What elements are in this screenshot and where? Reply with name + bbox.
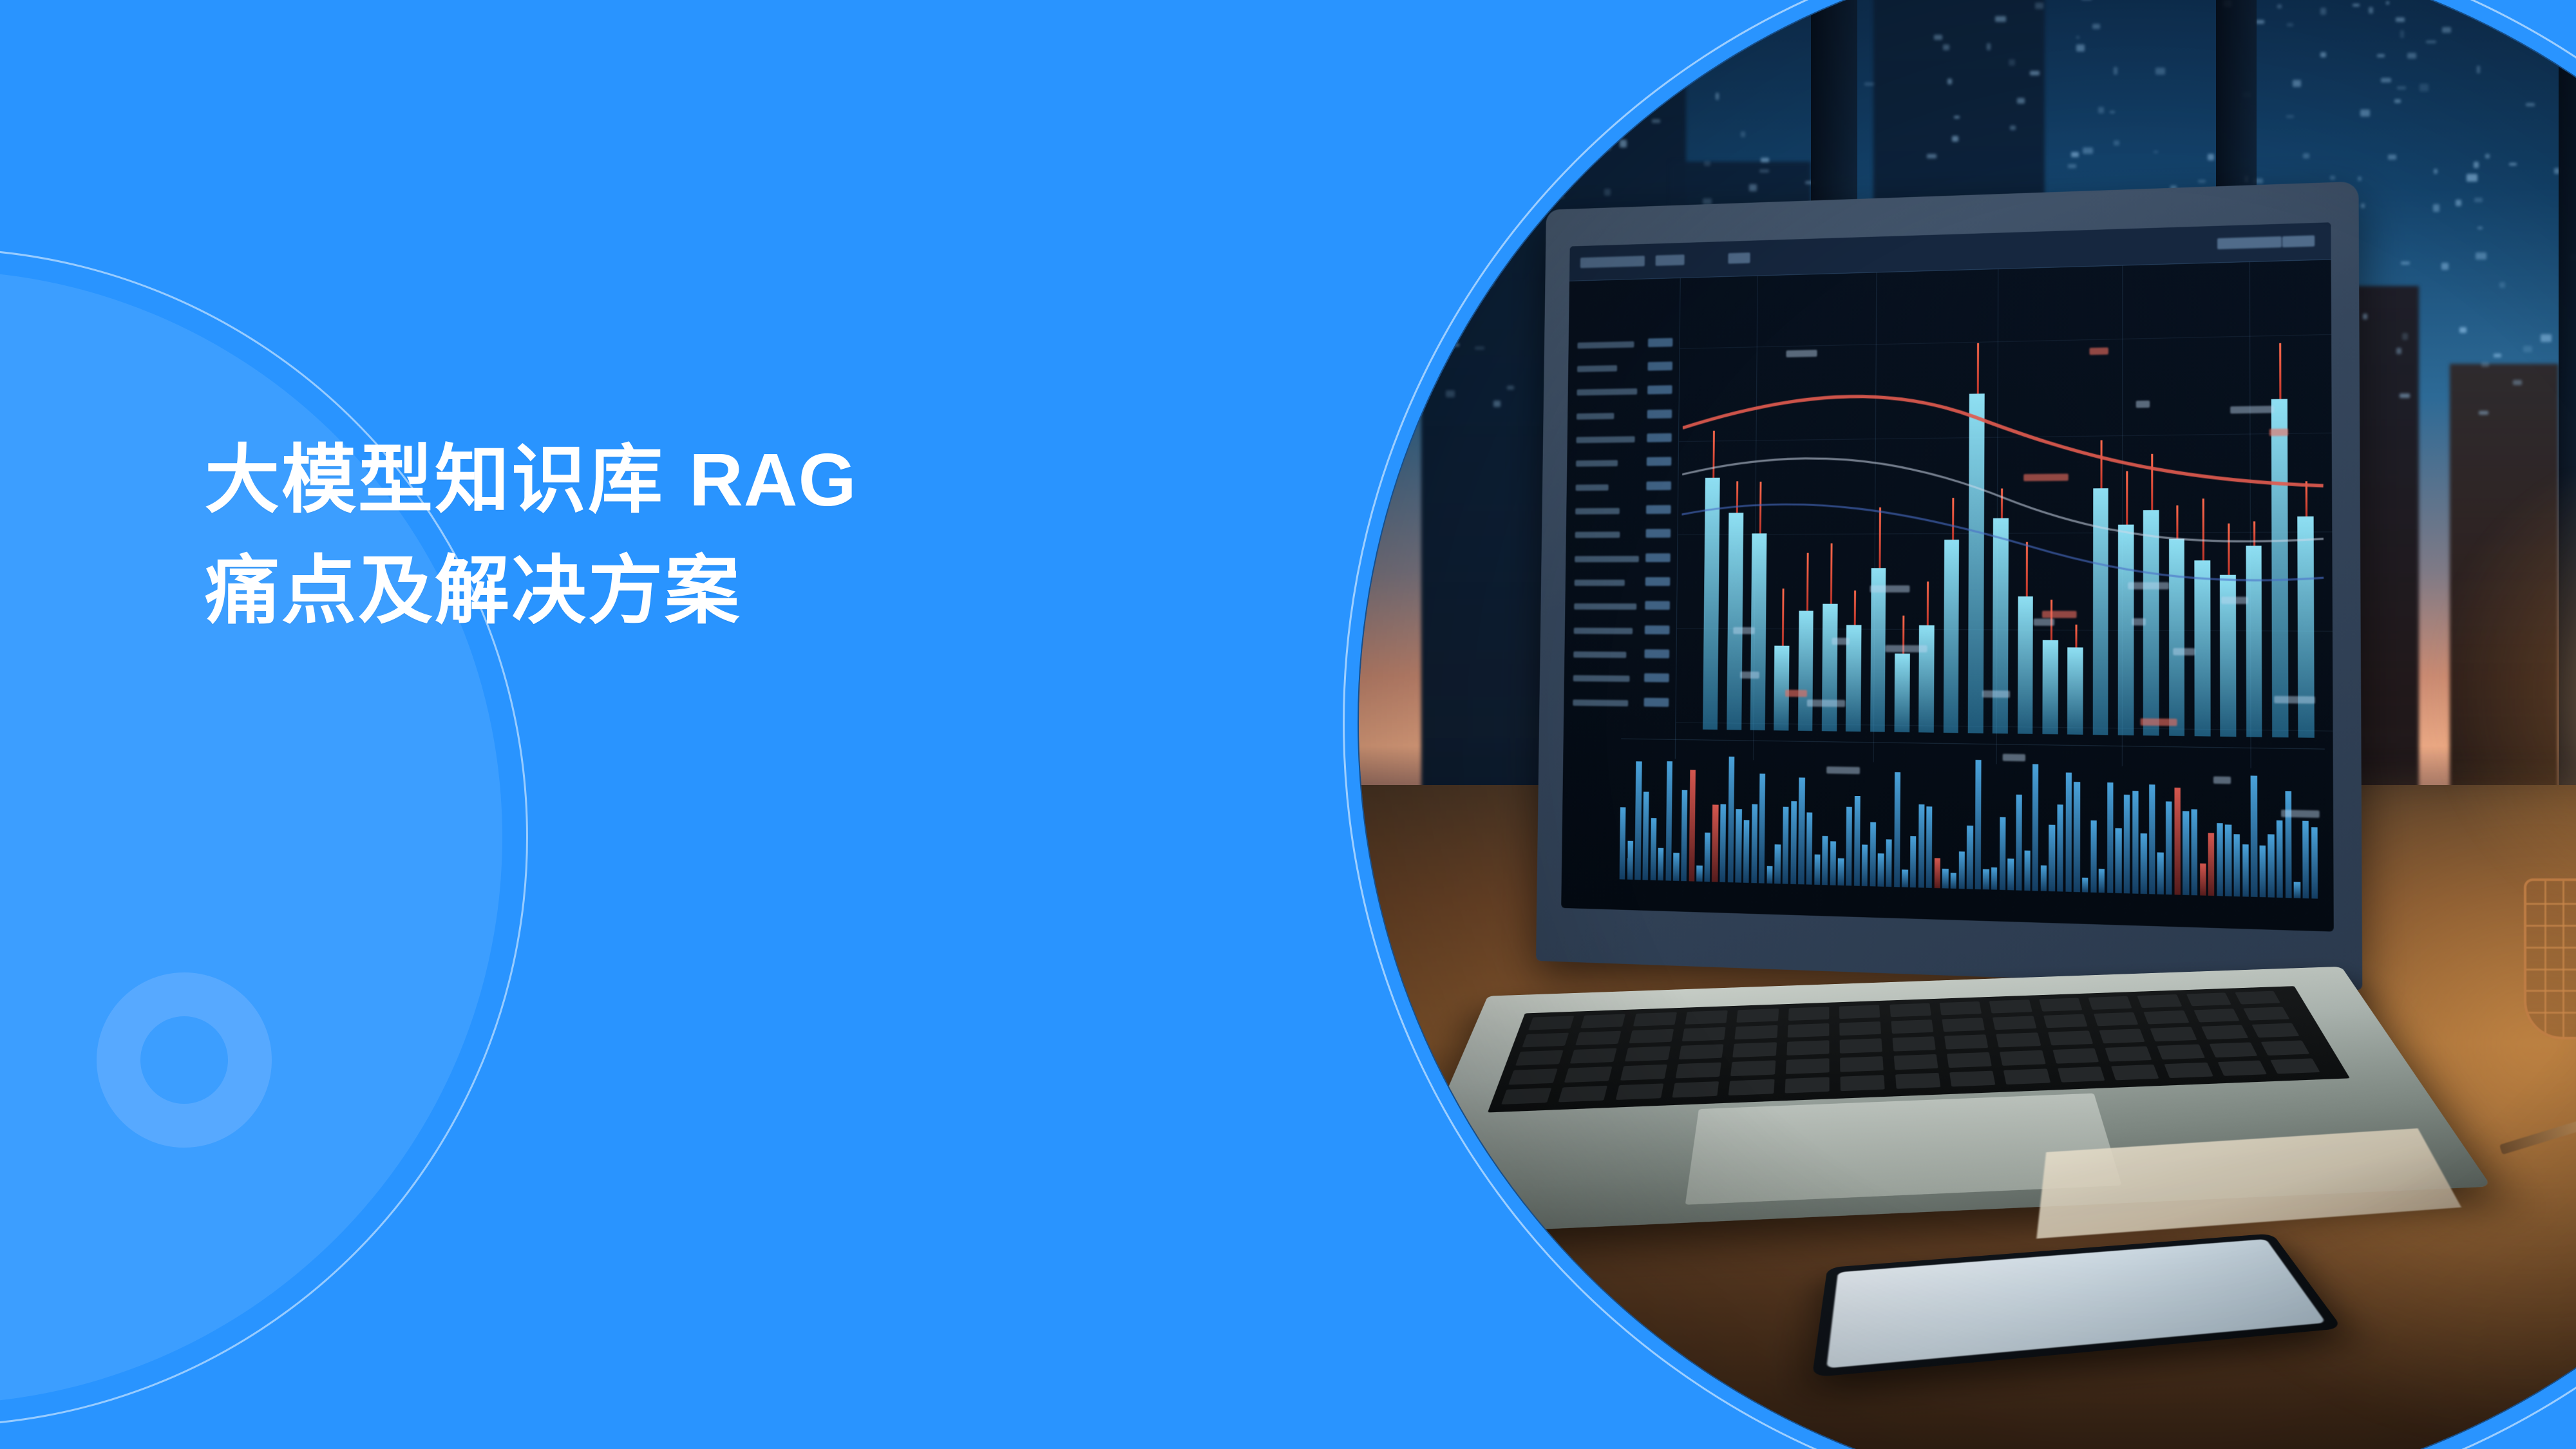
presentation-slide: 大模型知识库RAG 痛点及解决方案 <box>0 0 2576 1449</box>
title-line-1-latin: RAG <box>665 438 857 522</box>
screen-toolbar <box>1569 222 2331 281</box>
hero-photo-image <box>1359 0 2576 1449</box>
decorative-ring-icon <box>97 972 272 1148</box>
screen-left-panel <box>1563 278 1680 759</box>
title-line-1-cn: 大模型知识库 <box>205 438 665 522</box>
title-line-1: 大模型知识库RAG <box>205 425 857 536</box>
page-title: 大模型知识库RAG 痛点及解决方案 <box>205 425 857 646</box>
wire-basket <box>2524 878 2576 1039</box>
chart-volume-subpanel <box>1620 739 2325 900</box>
laptop-lid <box>1536 182 2362 990</box>
title-line-2: 痛点及解决方案 <box>205 536 857 647</box>
hero-photo <box>1359 0 2576 1449</box>
laptop-screen <box>1561 222 2333 932</box>
chart-bars <box>1680 370 2324 738</box>
laptop-keyboard <box>1488 986 2351 1113</box>
